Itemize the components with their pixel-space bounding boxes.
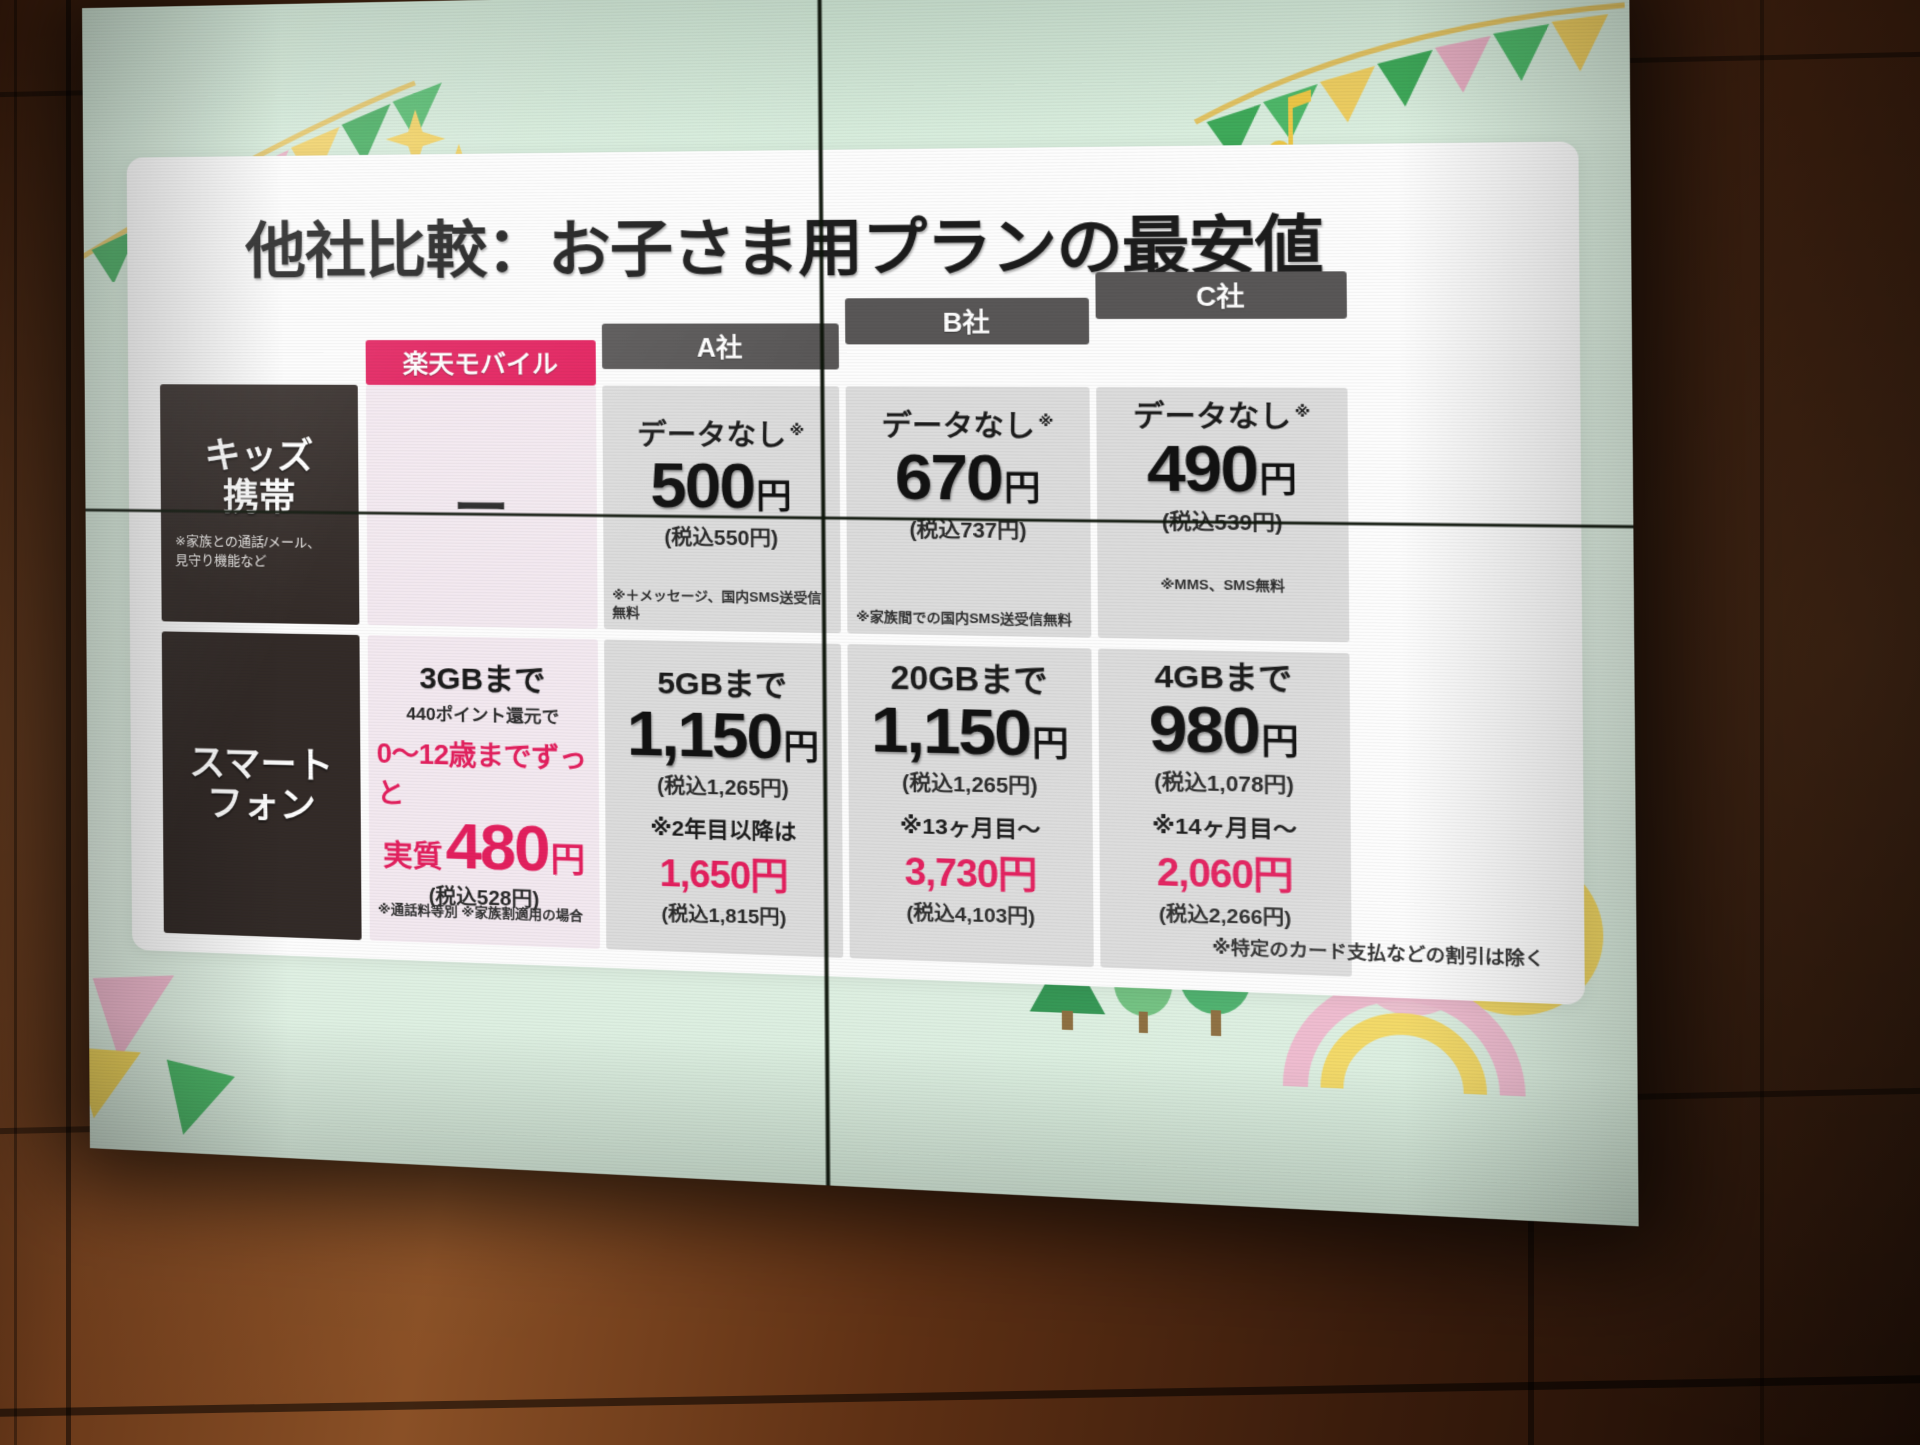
row-label-kids-note-line2: 見守り機能など [175, 553, 266, 569]
column-header-b[interactable]: B社 [845, 298, 1089, 345]
cell-kids-a-data-label: データなし※ [637, 413, 804, 456]
cell-kids-a-price-number: 500 [650, 454, 754, 519]
column-header-rakuten[interactable]: 楽天モバイル [366, 340, 596, 385]
cell-kids-c-data-label: データなし※ [1133, 393, 1311, 437]
video-wall-display: 他社比較：お子さま用プランの最安値 楽天モバイル A社 B社 C社 キッズ 携帯 [82, 0, 1639, 1226]
cell-kids-c-price: 490 円 [1147, 436, 1297, 504]
wall-seam-vertical-left [66, 0, 71, 1445]
cell-smartphone-b-second-note: ※13ヶ月目～ [900, 809, 1041, 845]
cell-smartphone-b-second-tax: (税込4,103円) [906, 897, 1035, 930]
row-label-smartphone-line2: フォン [207, 782, 316, 827]
table-row-smartphone: スマート フォン 3GBまで 440ポイント還元で 0～12歳までずっと 実質 [162, 631, 1552, 984]
wall-seam-vertical-far-right [1760, 0, 1764, 1445]
cell-smartphone-a-second-price: 1,650円 [659, 843, 788, 901]
row-label-smartphone-line1: スマート [189, 741, 333, 786]
cell-kids-b-data-label: データなし※ [881, 403, 1053, 446]
cell-smartphone-c: 4GBまで 980 円 (税込1,078円) ※14ヶ月目～ 2,060円 (税… [1098, 648, 1352, 976]
cell-smartphone-c-second-price: 2,060円 [1157, 842, 1293, 902]
cell-smartphone-c-price-yen: 円 [1261, 713, 1299, 765]
comparison-card: 他社比較：お子さま用プランの最安値 楽天モバイル A社 B社 C社 キッズ 携帯 [127, 141, 1585, 1005]
cell-kids-rakuten: ー [366, 385, 598, 629]
cell-kids-c-price-yen: 円 [1259, 451, 1297, 503]
cell-kids-a-price-yen: 円 [756, 468, 792, 518]
cell-kids-a-note: ※＋メッセージ、国内SMS送受信無料 [612, 586, 832, 626]
cell-smartphone-a: 5GBまで 1,150 円 (税込1,265円) ※2年目以降は 1,650円 … [604, 639, 843, 957]
cell-smartphone-a-price-yen: 円 [783, 719, 819, 770]
cell-smartphone-b-tax: (税込1,265円) [902, 766, 1038, 800]
screen-content: 他社比較：お子さま用プランの最安値 楽天モバイル A社 B社 C社 キッズ 携帯 [82, 0, 1639, 1226]
wall-seam-vertical-far-left [14, 0, 17, 1445]
cell-smartphone-rakuten-sub: 440ポイント還元で [406, 699, 559, 728]
comparison-table: 楽天モバイル A社 B社 C社 キッズ 携帯 ※家族との通話/メール、 [159, 260, 1552, 985]
cell-smartphone-rakuten-price: 実質 480 円 [383, 813, 586, 884]
cell-kids-a: データなし※ 500 円 (税込550円) ※＋メッセージ、国内SMS送受信無料 [602, 386, 841, 634]
column-header-a[interactable]: A社 [602, 323, 839, 369]
wall-seam-baseboard [0, 1375, 1920, 1417]
cell-smartphone-c-price: 980 円 [1149, 696, 1299, 766]
cell-kids-a-tax: (税込550円) [664, 520, 778, 552]
cell-smartphone-c-second-tax: (税込2,266円) [1159, 898, 1292, 931]
cell-kids-b: データなし※ 670 円 (税込737円) ※家族間での国内SMS送受信無料 [846, 386, 1092, 637]
cell-smartphone-a-second-note: ※2年目以降は [650, 811, 797, 847]
cell-kids-b-note: ※家族間での国内SMS送受信無料 [856, 608, 1082, 630]
cell-smartphone-rakuten-real-label: 実質 [383, 832, 443, 877]
row-label-smartphone: スマート フォン [162, 631, 362, 940]
cell-smartphone-c-tax: (税込1,078円) [1154, 765, 1294, 800]
cell-kids-b-price: 670 円 [895, 445, 1041, 512]
cell-smartphone-rakuten: 3GBまで 440ポイント還元で 0～12歳までずっと 実質 480 円 (税込… [368, 635, 600, 949]
column-header-c[interactable]: C社 [1095, 271, 1347, 319]
cell-smartphone-b-price: 1,150 円 [871, 698, 1069, 768]
cell-smartphone-rakuten-pink-line: 0～12歳までずっと [377, 731, 591, 817]
cell-kids-b-price-number: 670 [895, 445, 1002, 511]
row-label-kids: キッズ 携帯 ※家族との通話/メール、 見守り機能など [160, 384, 359, 625]
cell-kids-c-price-number: 490 [1147, 436, 1258, 503]
cell-smartphone-rakuten-yen: 円 [550, 832, 585, 883]
cell-kids-a-price: 500 円 [650, 454, 792, 520]
cell-smartphone-b: 20GBまで 1,150 円 (税込1,265円) ※13ヶ月目～ 3,730円… [847, 644, 1093, 967]
cell-smartphone-rakuten-real-price: 480 [445, 814, 548, 882]
cell-kids-b-price-yen: 円 [1004, 460, 1041, 511]
row-label-kids-note-line1: ※家族との通話/メール、 [175, 533, 321, 550]
table-header-row: 楽天モバイル A社 B社 C社 [159, 260, 1547, 389]
cell-kids-c: データなし※ 490 円 (税込539円) ※MMS、SMS無料 [1096, 387, 1349, 642]
cell-smartphone-b-price-yen: 円 [1032, 715, 1069, 767]
footnote-mark: ※ [1295, 402, 1311, 419]
cell-smartphone-b-second-price: 3,730円 [904, 841, 1036, 900]
cell-smartphone-c-price-number: 980 [1149, 696, 1260, 765]
footnote-mark: ※ [789, 421, 804, 438]
cell-smartphone-a-price-number: 1,150 [627, 702, 782, 770]
cell-kids-c-note: ※MMS、SMS無料 [1106, 575, 1339, 597]
row-label-kids-line1: キッズ [204, 435, 313, 477]
footnote-mark: ※ [1038, 412, 1053, 429]
cell-smartphone-a-price: 1,150 円 [627, 702, 820, 771]
cell-smartphone-rakuten-gb: 3GBまで [419, 652, 545, 700]
cell-smartphone-a-tax: (税込1,265円) [657, 769, 789, 803]
cell-smartphone-b-price-number: 1,150 [871, 698, 1031, 767]
cell-kids-rakuten-value: ー [453, 463, 510, 545]
cell-smartphone-c-second-note: ※14ヶ月目～ [1152, 808, 1297, 844]
cell-smartphone-a-second-tax: (税込1,815円) [661, 898, 786, 930]
